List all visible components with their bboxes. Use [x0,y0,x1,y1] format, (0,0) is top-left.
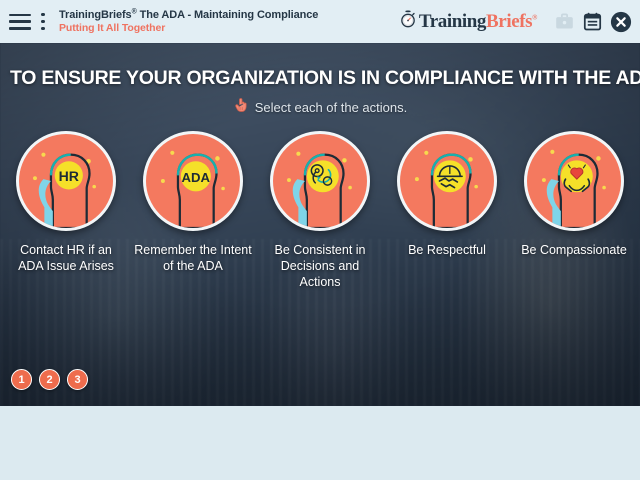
notes-icon[interactable] [582,11,603,32]
pointing-hand-icon [233,97,248,118]
logo-text: TrainingBriefs® [419,11,537,33]
action-items-row: HR Contact HR if an ADA Issue Arises [0,131,640,290]
page-background: TrainingBriefs® The ADA - Maintaining Co… [0,0,640,480]
slide-instruction-text: Select each of the actions. [255,100,407,115]
stopwatch-icon [399,10,417,33]
action-item-label: Remember the Intent of the ADA [133,242,253,274]
trainingbriefs-logo: TrainingBriefs® [399,10,537,33]
course-title: TrainingBriefs® The ADA - Maintaining Co… [59,9,399,21]
action-item-be-consistent[interactable]: Be Consistent in Decisions and Actions [260,131,380,290]
head-heart-hands-icon [524,131,624,231]
action-item-be-compassionate[interactable]: Be Compassionate [514,131,634,290]
slide-pagination: 1 2 3 [11,369,88,390]
kebab-menu-icon[interactable] [36,13,50,31]
head-gears-icon [270,131,370,231]
head-ada-icon: ADA [143,131,243,231]
head-hr-icon: HR [16,131,116,231]
action-item-be-respectful[interactable]: Be Respectful [387,131,507,290]
head-badge-label: HR [59,168,79,184]
course-slide: TO ENSURE YOUR ORGANIZATION IS IN COMPLI… [0,43,640,406]
head-handshake-icon [397,131,497,231]
action-item-label: Contact HR if an ADA Issue Arises [6,242,126,274]
logo-registered-mark: ® [532,13,537,21]
briefcase-icon [554,11,575,32]
course-subtitle: Putting It All Together [59,23,399,35]
course-title-brand: TrainingBriefs [59,9,132,21]
logo-text-briefs: Briefs [486,11,532,32]
close-icon[interactable] [610,11,632,33]
action-item-label: Be Respectful [408,242,486,258]
logo-text-training: Training [419,11,486,32]
course-title-block: TrainingBriefs® The ADA - Maintaining Co… [59,8,399,34]
head-badge-label: ADA [182,170,211,185]
player-topbar: TrainingBriefs® The ADA - Maintaining Co… [0,0,640,43]
action-item-contact-hr[interactable]: HR Contact HR if an ADA Issue Arises [6,131,126,290]
slide-instruction-row: Select each of the actions. [0,97,640,118]
hamburger-menu-icon[interactable] [9,14,31,30]
action-item-label: Be Compassionate [521,242,627,258]
action-item-label: Be Consistent in Decisions and Actions [260,242,380,290]
slide-title: TO ENSURE YOUR ORGANIZATION IS IN COMPLI… [0,67,640,90]
action-item-remember-intent[interactable]: ADA Remember the Intent of the ADA [133,131,253,290]
course-title-rest: The ADA - Maintaining Compliance [137,9,319,21]
page-button-1[interactable]: 1 [11,369,32,390]
page-button-2[interactable]: 2 [39,369,60,390]
page-button-3[interactable]: 3 [67,369,88,390]
